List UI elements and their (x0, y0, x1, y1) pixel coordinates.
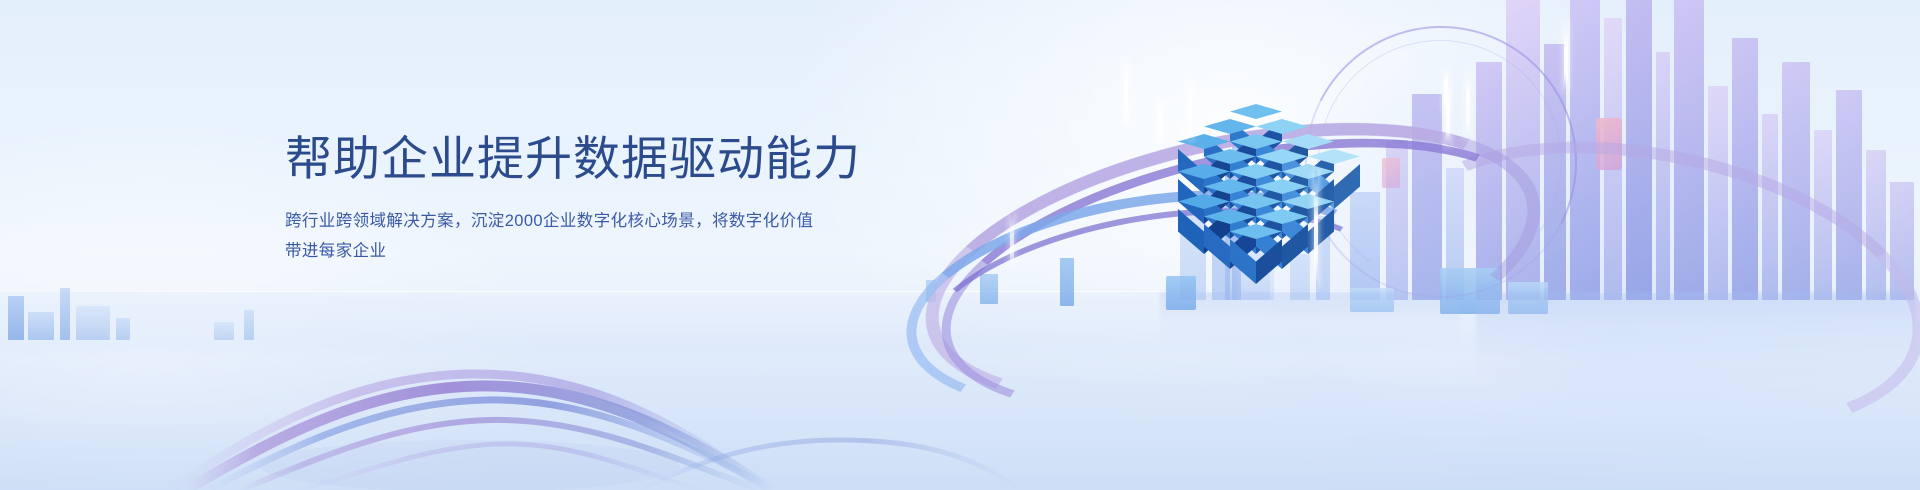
hero-artwork (880, 0, 1920, 490)
light-streak (1446, 80, 1450, 146)
page-title: 帮助企业提升数据驱动能力 (285, 132, 985, 186)
light-streak (1314, 170, 1318, 288)
hero-banner: 帮助企业提升数据驱动能力 跨行业跨领域解决方案，沉淀2000企业数字化核心场景，… (0, 0, 1920, 490)
light-streak (1158, 98, 1162, 146)
subtitle-line-1: 跨行业跨领域解决方案，沉淀2000企业数字化核心场景，将数字化价值 (285, 206, 945, 237)
light-streak (1466, 66, 1470, 140)
light-streak (1124, 54, 1128, 130)
light-streak (1564, 20, 1568, 92)
subtitle-line-2: 带进每家企业 (285, 236, 945, 267)
hero-subtitle: 跨行业跨领域解决方案，沉淀2000企业数字化核心场景，将数字化价值 带进每家企业 (285, 206, 945, 267)
light-streak (1188, 78, 1192, 140)
light-streak (1010, 212, 1014, 270)
cube-cluster (1138, 104, 1388, 304)
hero-copy: 帮助企业提升数据驱动能力 跨行业跨领域解决方案，沉淀2000企业数字化核心场景，… (285, 132, 985, 267)
cube (1230, 224, 1282, 284)
